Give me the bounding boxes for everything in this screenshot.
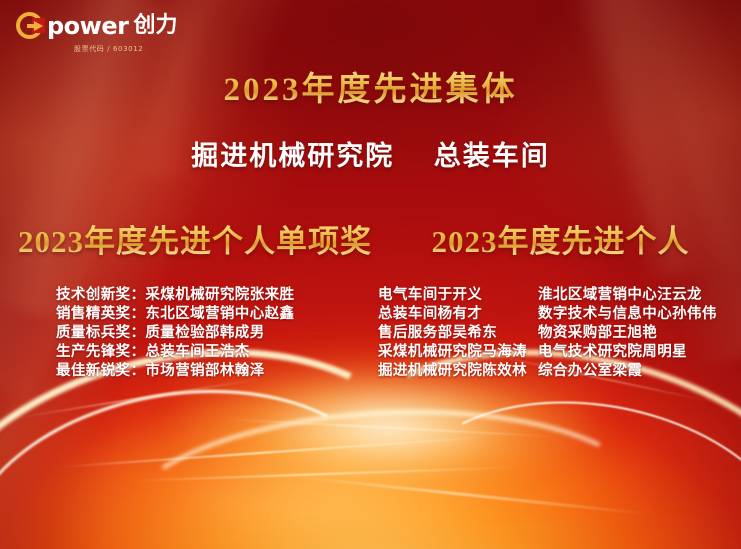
- award-poster: power 创力 股票代码 / 603012 2023年度先进集体 掘进机械研究…: [0, 0, 741, 549]
- list-item: 电气车间于开义 淮北区域营销中心汪云龙: [378, 286, 741, 305]
- list-item: 采煤机械研究院马海涛 电气技术研究院周明星: [378, 343, 741, 362]
- list-item: 总装车间杨有才 数字技术与信息中心孙伟伟: [378, 305, 741, 324]
- list-item-left: 掘进机械研究院陈效林: [378, 362, 538, 381]
- heading-individual-awards: 2023年度先进个人: [390, 216, 741, 261]
- list-item-right: 数字技术与信息中心孙伟伟: [538, 305, 741, 324]
- list-item-left: 售后服务部吴希东: [378, 324, 538, 343]
- list-item: 销售精英奖：东北区域营销中心赵鑫: [56, 305, 370, 324]
- special-award-list: 技术创新奖：采煤机械研究院张来胜 销售精英奖：东北区域营销中心赵鑫 质量标兵奖：…: [0, 286, 370, 381]
- heading-individual-special-awards: 2023年度先进个人单项奖: [0, 216, 390, 261]
- list-item-left: 总装车间杨有才: [378, 305, 538, 324]
- list-item-left: 采煤机械研究院马海涛: [378, 343, 538, 362]
- logo-row: power 创力: [16, 12, 177, 39]
- list-item: 技术创新奖：采煤机械研究院张来胜: [56, 286, 370, 305]
- list-item: 最佳新锐奖：市场营销部林翰泽: [56, 362, 370, 381]
- list-item: 售后服务部吴希东 物资采购部王旭艳: [378, 324, 741, 343]
- brand-logo: power 创力 股票代码 / 603012: [16, 12, 177, 54]
- logo-wordmark-cn: 创力: [133, 15, 177, 37]
- list-item-right: 电气技术研究院周明星: [538, 343, 741, 362]
- individual-award-list: 电气车间于开义 淮北区域营销中心汪云龙 总装车间杨有才 数字技术与信息中心孙伟伟…: [370, 286, 741, 381]
- list-item-right: 综合办公室梁霞: [538, 362, 741, 381]
- page-title-collective: 2023年度先进集体: [0, 62, 741, 110]
- list-item: 生产先锋奖：总装车间王浩杰: [56, 343, 370, 362]
- award-lists: 技术创新奖：采煤机械研究院张来胜 销售精英奖：东北区域营销中心赵鑫 质量标兵奖：…: [0, 286, 741, 381]
- collective-unit-1: 掘进机械研究院: [191, 141, 394, 171]
- list-item: 质量标兵奖：质量检验部韩成男: [56, 324, 370, 343]
- stock-code-label: 股票代码 / 603012: [74, 44, 143, 54]
- section-headings: 2023年度先进个人单项奖 2023年度先进个人: [0, 216, 741, 261]
- list-item: 掘进机械研究院陈效林 综合办公室梁霞: [378, 362, 741, 381]
- logo-wordmark: power: [47, 14, 128, 38]
- list-item-right: 淮北区域营销中心汪云龙: [538, 286, 741, 305]
- collective-units: 掘进机械研究院 总装车间: [0, 134, 741, 173]
- list-item-right: 物资采购部王旭艳: [538, 324, 741, 343]
- collective-unit-2: 总装车间: [434, 141, 550, 171]
- list-item-left: 电气车间于开义: [378, 286, 538, 305]
- c-power-circle-arrow-icon: [16, 12, 43, 39]
